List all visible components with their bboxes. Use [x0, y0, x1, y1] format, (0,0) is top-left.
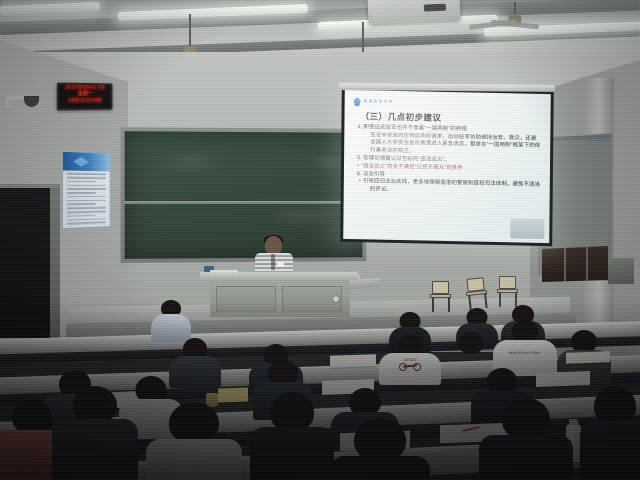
slide-image-placeholder: [510, 218, 544, 239]
student: [150, 300, 192, 340]
student: VINTAGE: [378, 334, 442, 378]
tshirt-motorcycle-graphic: VINTAGE: [399, 362, 421, 371]
lecture-podium: [200, 272, 358, 317]
slide-body: 4.即使出动驻军也并不意着“一国两制”的终结 无论中央政府应特区政府请求，出动驻…: [357, 124, 542, 198]
door-jamb: [50, 188, 60, 338]
student: [580, 386, 640, 480]
slide-line-text: 在理论揭露认过包彩的“违法达义”。: [363, 155, 450, 163]
empty-chair: [497, 276, 519, 306]
student: [478, 398, 574, 480]
presentation-slide: 西南政法大学 （三）几点初步建议 4.即使出动驻军也并不意着“一国两制”的终结 …: [343, 90, 551, 243]
student: [330, 418, 430, 480]
desk-paper: [566, 351, 610, 364]
empty-chair: [430, 281, 452, 311]
blackboard: [121, 127, 367, 263]
logo-text: 西南政法大学: [364, 99, 394, 105]
doorway: [0, 188, 54, 338]
logo-mark-icon: [354, 97, 361, 106]
slide-line-text: “违法达义”完全不满足“公民不服从”的条件: [361, 163, 463, 171]
student: [146, 402, 242, 480]
slide-line-text: 即使出动驻军也并不意着“一国两制”的终结: [363, 124, 467, 132]
wall-vent: [608, 258, 634, 284]
security-camera-icon: [6, 92, 40, 114]
led-date-display: 2015年08月17日 星期一 20时15分30秒: [57, 83, 113, 111]
slide-line: 无论中央政府应特区政府请求，出动驻军协助维持治安、救灾，还是全国人大常委会宣布香…: [357, 132, 541, 159]
slide-line: •引导回归法治底线，更多地理解香港的警察制度和司法体制，避免不适当的评论。: [357, 178, 541, 197]
student: [52, 386, 138, 480]
desk-notebook: [536, 371, 590, 387]
slide-line-text: 无论中央政府应特区政府请求，出动驻军协助维持治安、救灾，还是全国人大常委会宣布香…: [370, 132, 540, 154]
desk-paper: [330, 354, 376, 368]
podium-equipment: [210, 270, 238, 277]
wall-notice-poster: [62, 151, 111, 229]
slide-title: （三）几点初步建议: [360, 110, 441, 124]
student: MAGICALFUNK: [492, 320, 558, 372]
slide-line-text: 引导回归法治底线，更多地理解香港的警察制度和司法体制，避免不适当的评论。: [363, 179, 540, 193]
empty-chair: [464, 277, 489, 309]
student: [250, 392, 334, 480]
desk-paper-yellow: [218, 387, 248, 402]
slide-line-text: 法治引导: [363, 171, 385, 177]
university-logo: 西南政法大学: [354, 97, 394, 107]
lower-window-pane: [542, 246, 608, 282]
lecture-hall-photo: 2015年08月17日 星期一 20时15分30秒 西南政法大学 （三）几点初步…: [0, 0, 640, 480]
projection-screen: 西南政法大学 （三）几点初步建议 4.即使出动驻军也并不意着“一国两制”的终结 …: [340, 87, 554, 246]
led-line-time: 20时15分30秒: [59, 98, 111, 105]
tshirt-text-graphic: MAGICALFUNK: [509, 350, 541, 355]
projector-icon: [367, 0, 460, 24]
tshirt-graphic-caption: VINTAGE: [403, 358, 417, 362]
